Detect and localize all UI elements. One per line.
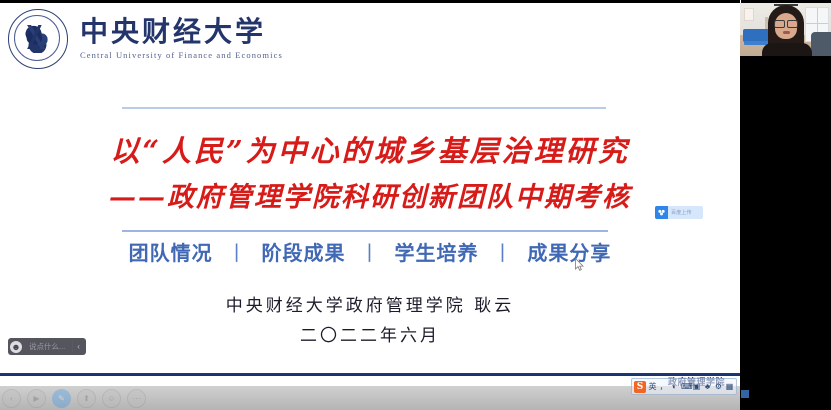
empty-video-slots <box>740 56 831 410</box>
glasses-icon <box>774 20 798 26</box>
nav-item-results: 阶段成果 <box>260 241 348 265</box>
slide-subtitle: ——政府管理学院科研创新团队中期考核 <box>0 175 740 214</box>
media-control-bar[interactable]: ‹ ▶ ✎ ⬆ ☺ ⋯ <box>2 389 146 408</box>
ime-skin-icon[interactable]: ♣ <box>703 382 712 391</box>
chat-collapse-icon[interactable]: ‹ <box>73 342 84 351</box>
chat-input-placeholder[interactable]: 说点什么... <box>22 341 73 352</box>
participant-mouth <box>783 31 790 34</box>
divider-middle <box>122 230 608 232</box>
date-line: 二〇二二年六月 <box>0 321 740 346</box>
ime-mode-chinese[interactable]: 英 <box>648 381 657 392</box>
video-chair <box>811 32 831 56</box>
chat-input-widget[interactable]: ☻ 说点什么... ‹ <box>8 338 86 355</box>
nav-separator: 丨 <box>223 241 252 265</box>
nav-separator: 丨 <box>356 241 385 265</box>
ime-settings-icon[interactable]: ⚙ <box>714 382 723 391</box>
nav-item-sharing: 成果分享 <box>525 241 613 265</box>
media-more-button[interactable]: ⋯ <box>127 389 146 408</box>
participant-torso <box>762 43 812 56</box>
mouse-cursor <box>575 258 584 271</box>
media-prev-button[interactable]: ‹ <box>2 389 21 408</box>
ime-full-half-width[interactable]: ◐ <box>670 382 679 391</box>
media-share-button[interactable]: ⬆ <box>77 389 96 408</box>
slide-title: 以“人民”为中心的城乡基层治理研究 <box>0 128 740 170</box>
nav-item-students: 学生培养 <box>392 241 480 265</box>
university-name-en: Central University of Finance and Econom… <box>80 51 283 60</box>
tray-icon[interactable] <box>741 390 749 398</box>
cloud-upload-label: 百度上传 <box>668 209 692 216</box>
cloud-upload-icon <box>655 206 668 219</box>
ime-toolbox-icon[interactable]: ▣ <box>692 382 701 391</box>
university-seal-icon <box>8 9 68 69</box>
smiley-icon: ☻ <box>10 341 22 353</box>
presentation-slide[interactable]: 中央财经大学 Central University of Finance and… <box>0 3 740 386</box>
slide-section-nav: 团队情况 丨 阶段成果 丨 学生培养 丨 成果分享 <box>0 237 740 266</box>
ime-punctuation[interactable]: ， <box>659 381 668 392</box>
media-user-button[interactable]: ☺ <box>102 389 121 408</box>
ime-more-icon[interactable]: ▦ <box>725 382 734 391</box>
sogou-logo-icon[interactable]: S <box>634 381 646 393</box>
participant-video-rail[interactable] <box>740 0 831 410</box>
meeting-window: 中央财经大学 Central University of Finance and… <box>0 0 831 410</box>
university-name-cn: 中央财经大学 <box>80 18 283 46</box>
cloud-upload-button[interactable]: 百度上传 <box>655 206 703 219</box>
nav-item-team: 团队情况 <box>127 241 215 265</box>
video-wall-poster <box>744 8 754 21</box>
participant-video-tile[interactable] <box>740 3 831 56</box>
divider-top <box>122 107 606 109</box>
slide-footer-divider <box>0 373 740 376</box>
university-logo: 中央财经大学 Central University of Finance and… <box>8 8 283 70</box>
media-play-button[interactable]: ▶ <box>27 389 46 408</box>
ime-soft-keyboard-icon[interactable]: ⌨ <box>681 382 690 391</box>
ime-toolbar[interactable]: S 英 ， ◐ ⌨ ▣ ♣ ⚙ ▦ <box>631 378 737 395</box>
nav-separator: 丨 <box>488 241 517 265</box>
media-annotate-button[interactable]: ✎ <box>52 389 71 408</box>
screen-share-area[interactable]: 中央财经大学 Central University of Finance and… <box>0 0 740 410</box>
presenter-line: 中央财经大学政府管理学院 耿云 <box>0 291 740 316</box>
